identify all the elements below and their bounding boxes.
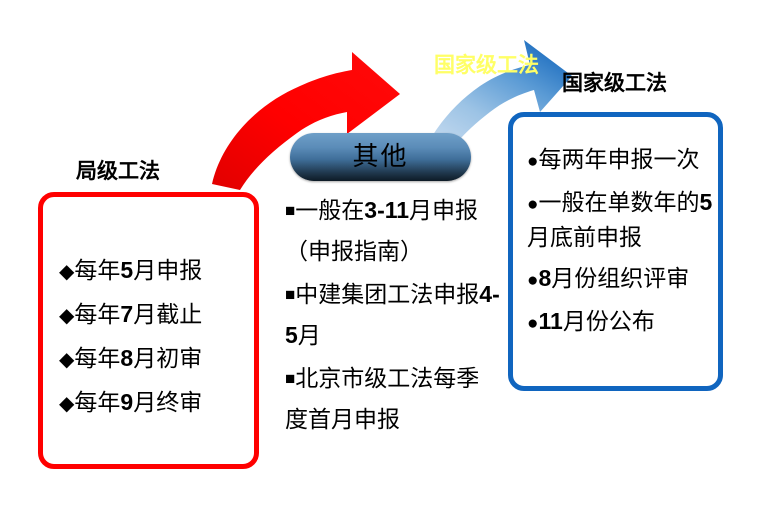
pill-other-label: 其他	[352, 144, 408, 170]
item-text-pre: 北京市级工法每季度首月申报	[285, 366, 479, 432]
item-text-post: 月底前申报	[527, 225, 642, 250]
list-item: ■北京市级工法每季度首月申报	[285, 358, 500, 440]
item-text-post: 月	[298, 323, 321, 348]
item-text-pre: 每年	[74, 346, 120, 371]
item-text-post: 月终审	[133, 390, 202, 415]
other-level-list: ■一般在3-11月申报（申报指南） ■中建集团工法申报4-5月 ■北京市级工法每…	[285, 190, 500, 442]
list-item: ◆每年8月初审	[59, 337, 254, 381]
dot-bullet-icon: ●	[527, 313, 538, 334]
item-text-pre: 每年	[74, 258, 120, 283]
dot-bullet-icon: ●	[527, 151, 538, 172]
list-item: ◆每年7月截止	[59, 293, 254, 337]
panel-bureau-level: ◆每年5月申报 ◆每年7月截止 ◆每年8月初审 ◆每年9月终审	[38, 192, 259, 469]
dot-bullet-icon: ●	[527, 270, 538, 291]
item-text-num: 9	[120, 389, 133, 415]
list-item: ●每两年申报一次	[527, 143, 717, 178]
item-text-post: 月截止	[133, 302, 202, 327]
item-text-num: 3-11	[364, 197, 409, 223]
heading-national-level: 国家级工法	[562, 73, 667, 94]
square-bullet-icon: ■	[285, 369, 295, 388]
item-text-num: 11	[538, 308, 562, 334]
item-text-num: 5	[120, 257, 133, 283]
item-text-pre: 中建集团工法申报	[295, 282, 479, 307]
diamond-bullet-icon: ◆	[59, 305, 74, 327]
item-text-post: 月份组织评审	[551, 266, 689, 291]
item-text-pre: 每两年申报一次	[538, 147, 699, 172]
national-level-list: ●每两年申报一次 ●一般在单数年的5月底前申报 ●8月份组织评审 ●11月份公布	[527, 143, 717, 348]
item-text-pre: 一般在单数年的	[538, 190, 699, 215]
square-bullet-icon: ■	[285, 285, 295, 304]
list-item: ◆每年5月申报	[59, 249, 254, 293]
list-item: ■一般在3-11月申报（申报指南）	[285, 190, 500, 272]
item-text-num: 7	[120, 301, 133, 327]
diamond-bullet-icon: ◆	[59, 393, 74, 415]
list-item: ●11月份公布	[527, 305, 717, 340]
list-item: ◆每年9月终审	[59, 381, 254, 425]
item-text-pre: 每年	[74, 302, 120, 327]
item-text-num: 8	[120, 345, 133, 371]
panel-national-level: ●每两年申报一次 ●一般在单数年的5月底前申报 ●8月份组织评审 ●11月份公布	[508, 112, 723, 391]
item-text-num: 5	[699, 189, 712, 215]
item-text-num: 8	[538, 265, 551, 291]
square-bullet-icon: ■	[285, 201, 295, 220]
list-item: ●8月份组织评审	[527, 262, 717, 297]
item-text-pre: 每年	[74, 390, 120, 415]
item-text-post: 月初审	[133, 346, 202, 371]
item-text-post: 月份公布	[563, 309, 655, 334]
diamond-bullet-icon: ◆	[59, 349, 74, 371]
caption-national-overlay: 国家级工法	[434, 55, 539, 76]
heading-bureau-level: 局级工法	[76, 161, 160, 182]
bureau-level-list: ◆每年5月申报 ◆每年7月截止 ◆每年8月初审 ◆每年9月终审	[59, 249, 254, 425]
item-text-post: 月申报	[133, 258, 202, 283]
list-item: ●一般在单数年的5月底前申报	[527, 186, 717, 254]
diamond-bullet-icon: ◆	[59, 261, 74, 283]
pill-other[interactable]: 其他	[290, 133, 471, 181]
list-item: ■中建集团工法申报4-5月	[285, 274, 500, 356]
item-text-pre: 一般在	[295, 198, 364, 223]
dot-bullet-icon: ●	[527, 194, 538, 215]
